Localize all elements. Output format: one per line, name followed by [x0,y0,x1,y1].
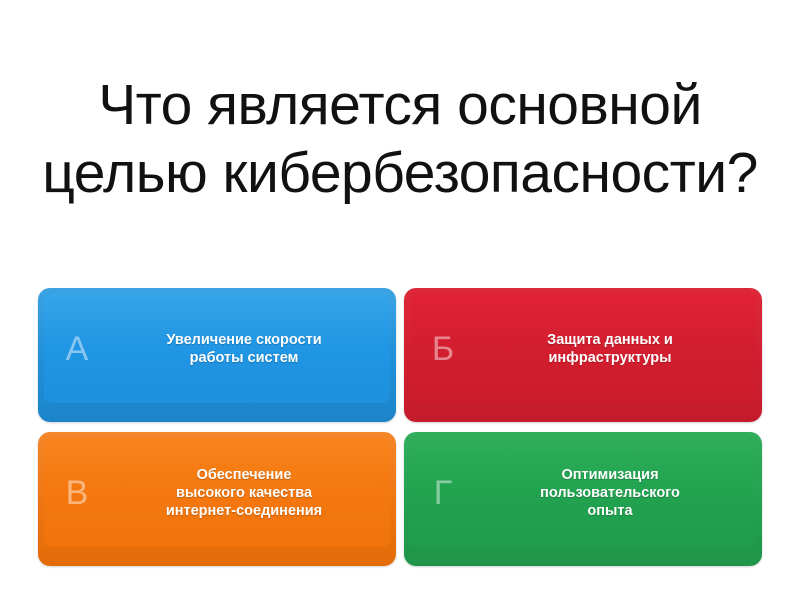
answer-option-g-letter: Г [410,476,476,510]
answer-option-a[interactable]: А Увеличение скорости работы систем [38,288,396,422]
answer-option-b[interactable]: Б Защита данных и инфраструктуры [404,288,762,422]
answer-option-b-label: Защита данных и инфраструктуры [476,331,756,367]
answer-option-v[interactable]: В Обеспечение высокого качества интернет… [38,432,396,566]
question-area: Что является основной целью кибербезопас… [0,0,800,278]
answer-option-v-face: В Обеспечение высокого качества интернет… [44,438,390,547]
answer-option-a-letter: А [44,332,110,366]
quiz-screen: Что является основной целью кибербезопас… [0,0,800,600]
answer-option-v-label: Обеспечение высокого качества интернет-с… [110,466,390,520]
question-text: Что является основной целью кибербезопас… [12,71,788,207]
answer-option-g-face: Г Оптимизация пользовательского опыта [410,438,756,547]
answer-option-b-face: Б Защита данных и инфраструктуры [410,294,756,403]
answer-option-v-letter: В [44,476,110,510]
answer-option-b-letter: Б [410,332,476,366]
answer-option-g-label: Оптимизация пользовательского опыта [476,466,756,520]
answer-option-g[interactable]: Г Оптимизация пользовательского опыта [404,432,762,566]
answer-option-a-label: Увеличение скорости работы систем [110,331,390,367]
answer-options-grid: А Увеличение скорости работы систем Б За… [38,288,762,566]
answer-option-a-face: А Увеличение скорости работы систем [44,294,390,403]
